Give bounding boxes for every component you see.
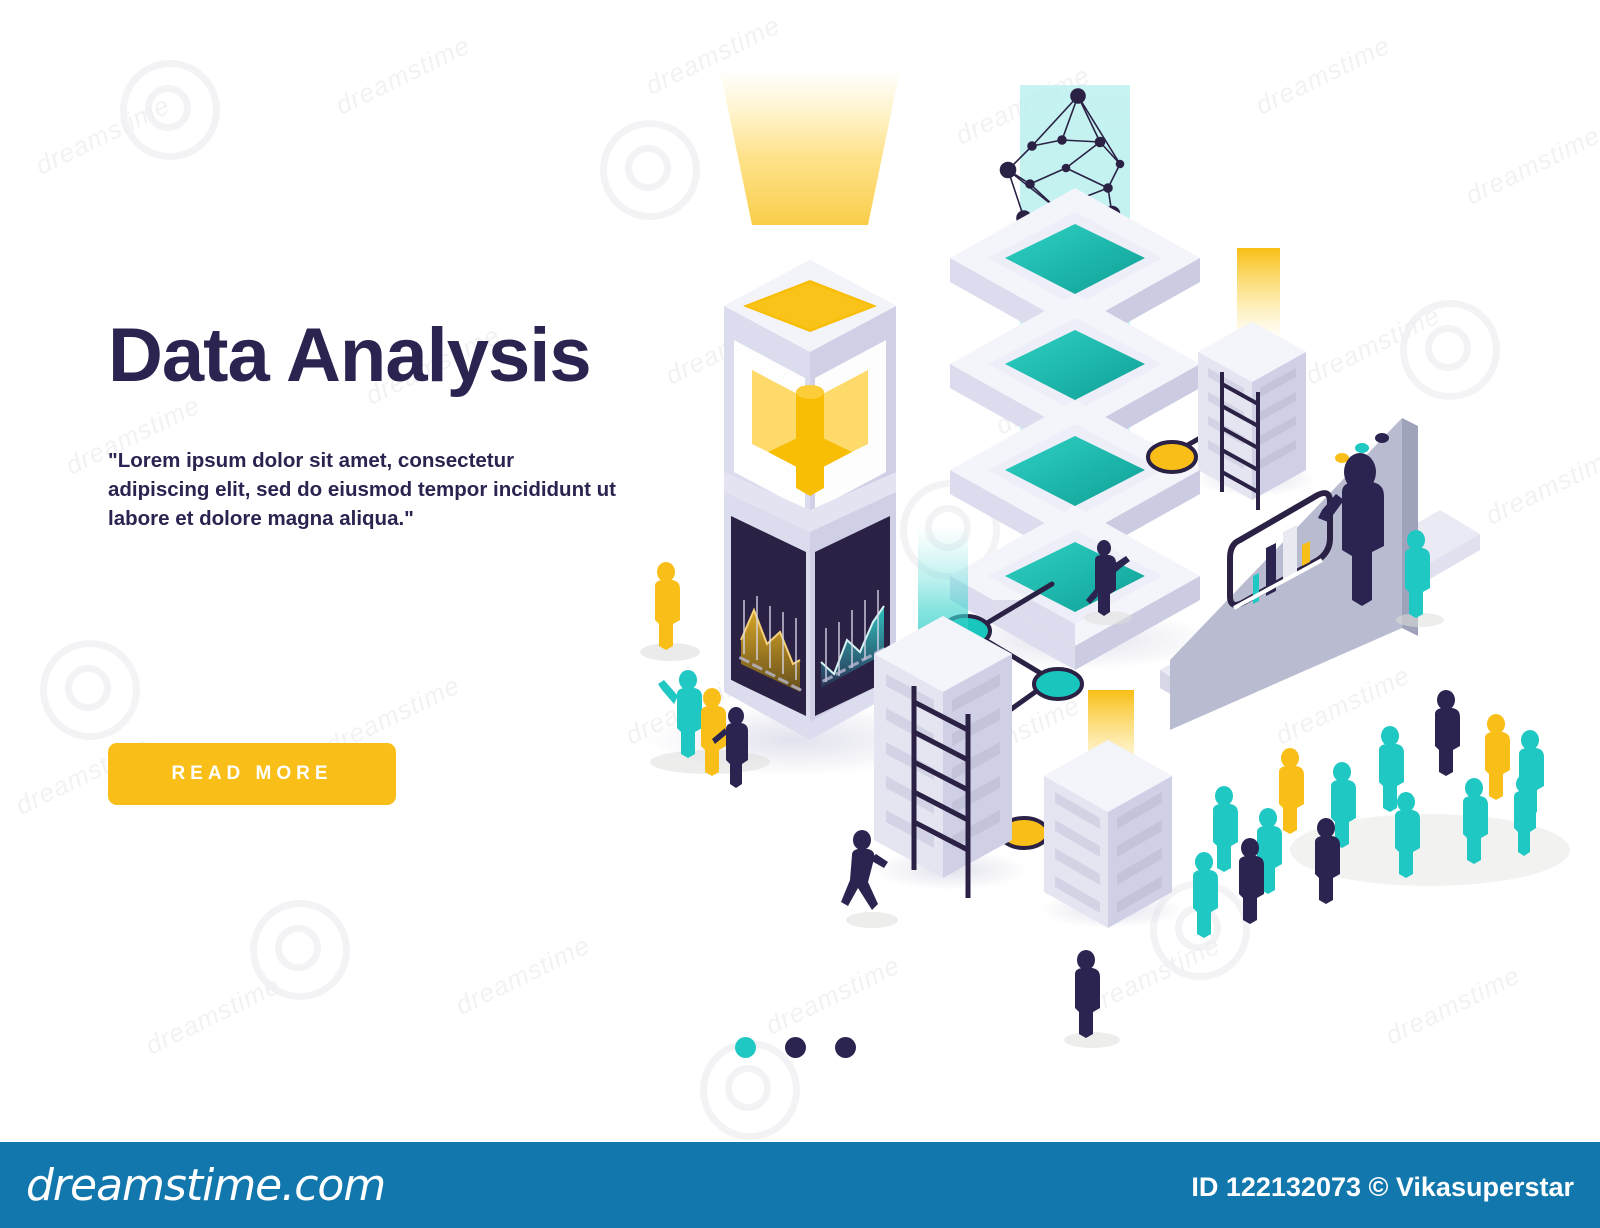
figure-navy-bottom (1064, 950, 1120, 1048)
layer-stack-tower (935, 85, 1215, 670)
projector-light-cone (720, 70, 900, 225)
footer-bar: dreamstime.com ID 122132073 © Vikasupers… (0, 1142, 1600, 1228)
page-title: Data Analysis (108, 318, 668, 394)
hero-text-block: Data Analysis "Lorem ipsum dolor sit ame… (108, 318, 668, 533)
image-credit: ID 122132073 © Vikasuperstar (1191, 1172, 1574, 1203)
watermark-spiral-icon (40, 640, 140, 740)
dreamstime-logo: dreamstime.com (26, 1160, 385, 1211)
watermark-spiral-icon (250, 900, 350, 1000)
isometric-illustration (600, 40, 1600, 1050)
server-rack-bottom (1040, 690, 1184, 928)
poster-canvas: dreamstimedreamstimedreamstimedreamstime… (0, 0, 1600, 1228)
node-teal-lower (1034, 669, 1082, 699)
watermark-spiral-icon (120, 60, 220, 160)
server-rack-top (1193, 248, 1317, 510)
figure-yellow-solo (640, 562, 700, 661)
window-dot-min (1355, 443, 1369, 453)
crowd-figure (1213, 786, 1238, 872)
crowd-group (1193, 690, 1570, 938)
hero-subtitle: "Lorem ipsum dolor sit amet, consectetur… (108, 446, 616, 533)
watermark-text: dreamstime (451, 930, 596, 1022)
watermark-text: dreamstime (141, 970, 286, 1062)
crowd-figure (1279, 748, 1304, 834)
watermark-text: dreamstime (331, 30, 476, 122)
watermark-text: dreamstime (31, 90, 176, 182)
crowd-figure (1435, 690, 1460, 776)
node-yellow-right (1148, 442, 1196, 472)
crowd-figure (1485, 714, 1510, 800)
read-more-button[interactable]: READ MORE (108, 743, 396, 805)
window-dot-close (1375, 433, 1389, 443)
crowd-figure (1193, 852, 1218, 938)
